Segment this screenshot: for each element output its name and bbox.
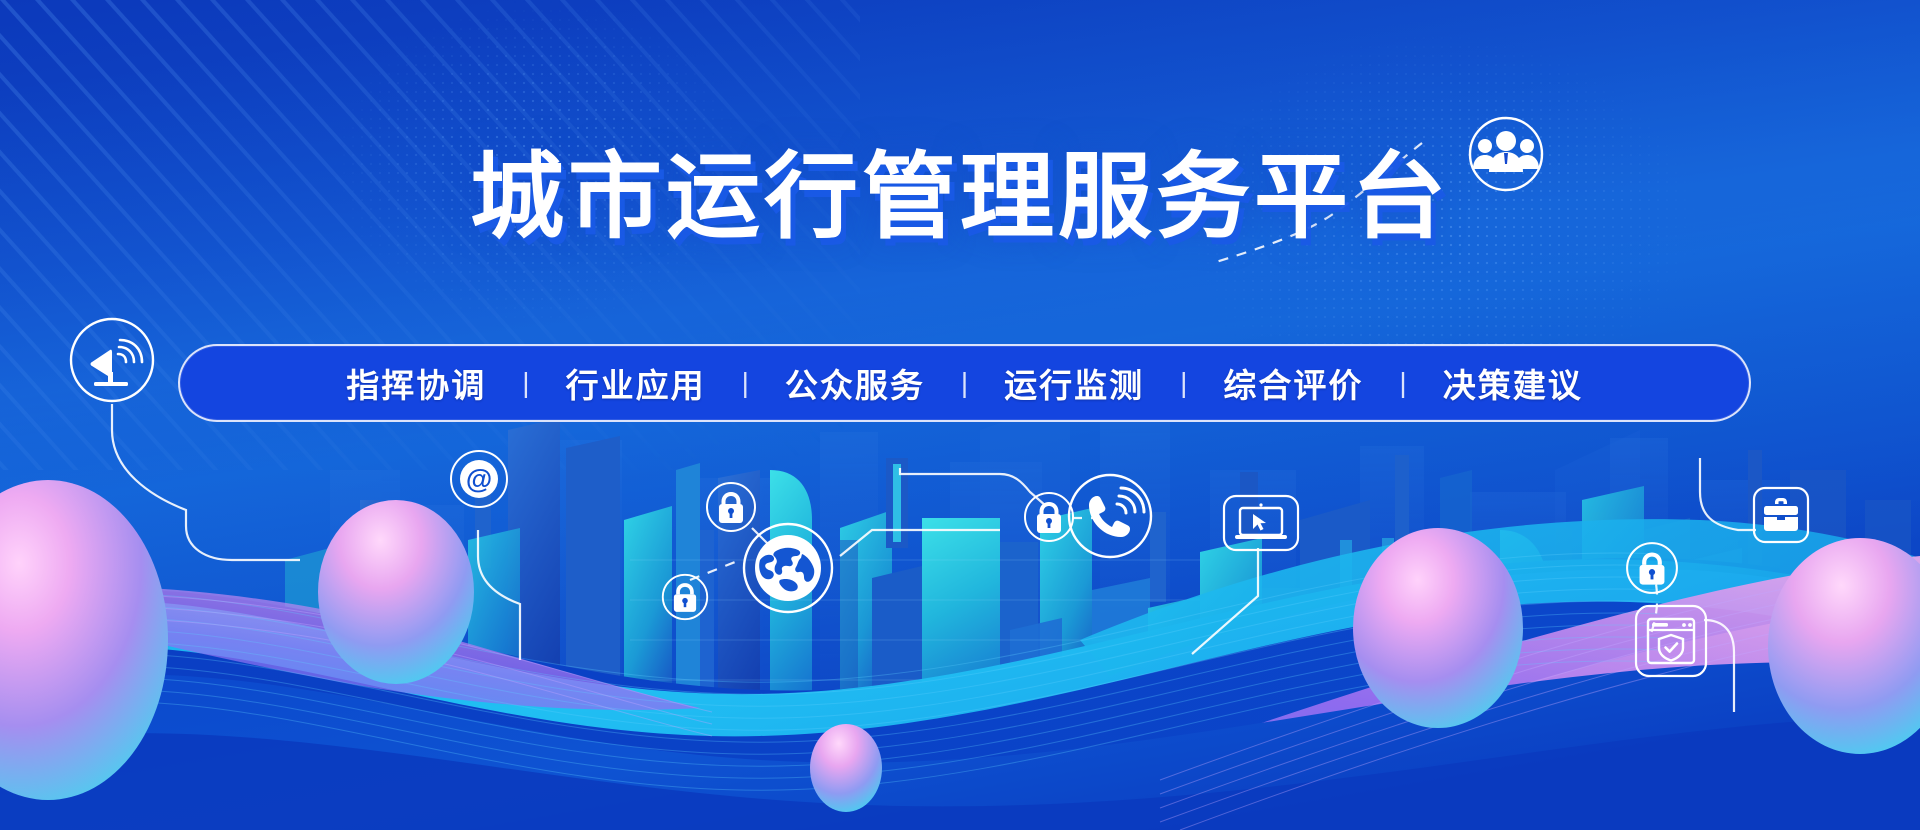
nav-item-2[interactable]: 公众服务 — [751, 359, 959, 407]
lock-icon[interactable] — [660, 572, 710, 622]
decorative-sphere — [318, 500, 474, 684]
svg-text:@: @ — [466, 464, 492, 494]
satellite-dish-icon[interactable] — [66, 314, 158, 406]
nav-separator: | — [959, 367, 970, 399]
nav-separator: | — [520, 367, 531, 399]
nav-separator: | — [740, 367, 751, 399]
lock-icon[interactable] — [1624, 540, 1680, 596]
nav-items-container: 指挥协调|行业应用|公众服务|运行监测|综合评价|决策建议 — [312, 359, 1616, 407]
nav-separator: | — [1178, 367, 1189, 399]
nav-item-5[interactable]: 决策建议 — [1409, 359, 1617, 407]
nav-item-3[interactable]: 运行监测 — [970, 359, 1178, 407]
globe-icon[interactable] — [740, 520, 836, 616]
decorative-sphere — [1353, 528, 1523, 728]
nav-item-4[interactable]: 综合评价 — [1189, 359, 1397, 407]
laptop-cursor-icon[interactable] — [1222, 494, 1300, 552]
nav-separator: | — [1397, 367, 1408, 399]
browser-shield-icon[interactable] — [1634, 604, 1708, 678]
briefcase-icon[interactable] — [1752, 486, 1810, 544]
nav-item-1[interactable]: 行业应用 — [532, 359, 740, 407]
nav-item-0[interactable]: 指挥协调 — [312, 359, 520, 407]
phone-call-icon[interactable] — [1064, 470, 1156, 562]
main-nav-bar[interactable]: 指挥协调|行业应用|公众服务|运行监测|综合评价|决策建议 — [178, 344, 1751, 422]
decorative-sphere — [810, 724, 882, 812]
at-symbol-icon[interactable]: @ — [448, 448, 510, 510]
city-platform-banner: 城市运行管理服务平台 指挥协调|行业应用|公众服务|运行监测|综合评价|决策建议 — [0, 0, 1920, 830]
people-group-icon[interactable] — [1464, 112, 1548, 196]
